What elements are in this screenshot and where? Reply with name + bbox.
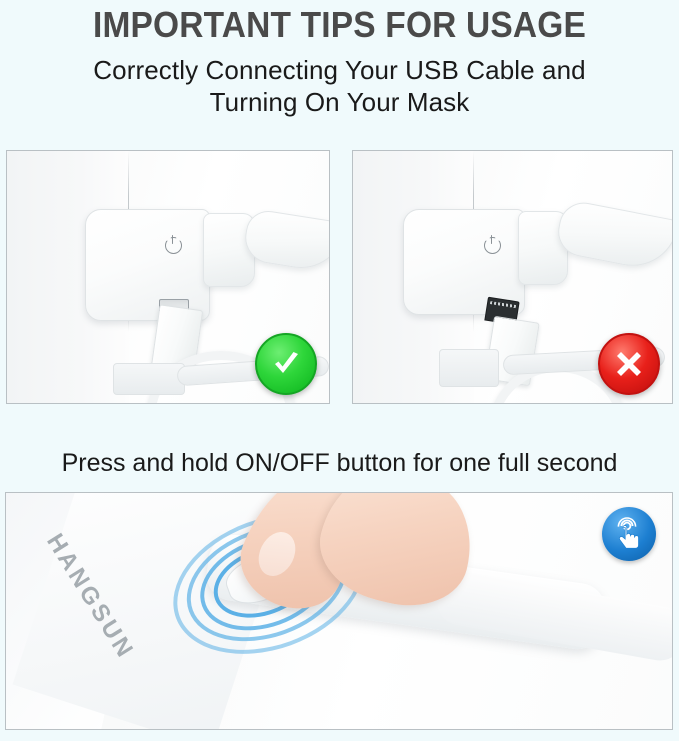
device-arm-body xyxy=(85,209,210,321)
page-subtitle: Correctly Connecting Your USB Cable and … xyxy=(0,46,679,118)
head-strap xyxy=(113,363,185,395)
power-icon-ring xyxy=(165,237,182,254)
instruction-caption: Press and hold ON/OFF button for one ful… xyxy=(0,448,679,478)
subtitle-line-1: Correctly Connecting Your USB Cable and xyxy=(93,55,585,85)
page-title: IMPORTANT TIPS FOR USAGE xyxy=(24,0,655,46)
panel-incorrect-usb-connection xyxy=(352,150,673,404)
power-icon xyxy=(484,235,501,252)
head-strap xyxy=(439,349,499,387)
power-icon-ring xyxy=(484,237,501,254)
touch-tap-icon-badge xyxy=(602,507,656,561)
panel-power-on-instruction: HANGSUN xyxy=(5,492,673,730)
header: IMPORTANT TIPS FOR USAGE Correctly Conne… xyxy=(0,0,679,118)
panel-correct-usb-connection xyxy=(6,150,330,404)
power-icon xyxy=(165,235,182,252)
status-badge-incorrect xyxy=(598,333,660,395)
subtitle-line-2: Turning On Your Mask xyxy=(0,86,679,118)
touch-tap-icon xyxy=(611,516,647,552)
status-badge-correct xyxy=(255,333,317,395)
